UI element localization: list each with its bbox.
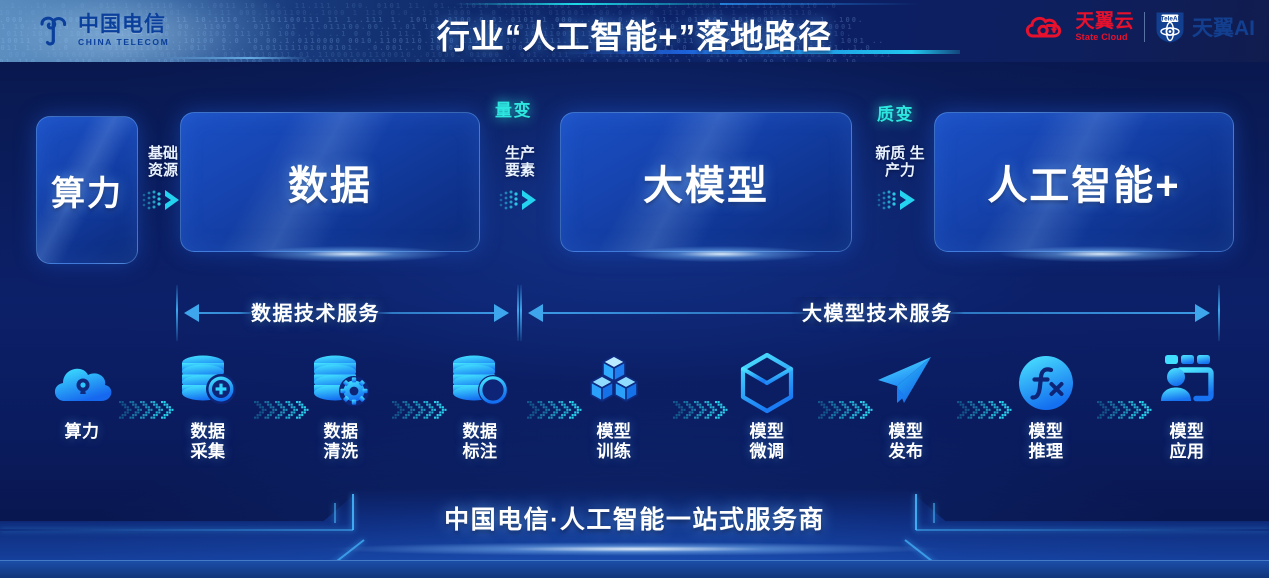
partner-logos: 天翼云 State Cloud TeleAI 天翼AI <box>1023 11 1255 43</box>
pipeline-node-label: 模型 微调 <box>750 422 785 461</box>
pipeline-node-label: 算力 <box>65 422 100 442</box>
connector-new-productivity: 新质 生产力 <box>871 146 929 213</box>
band-arrowhead-left <box>528 304 543 322</box>
header-accent-line-top-2 <box>720 3 920 5</box>
service-band-data: 数据技术服务 <box>176 285 519 341</box>
pipeline-node-label: 数据 标注 <box>463 422 498 461</box>
connector-basic-resource: 基础 资源 <box>140 146 186 213</box>
state-cloud-logo: 天翼云 State Cloud <box>1023 12 1134 42</box>
function-fx-icon <box>1016 352 1076 414</box>
state-cloud-logo-text: 天翼云 State Cloud <box>1075 12 1134 42</box>
connector-label: 生产 要素 <box>497 146 543 180</box>
paper-plane-icon <box>873 352 939 414</box>
binary-texture-row: 1100 101.110.. 0 1010 11 .00 1 10011 . 1… <box>0 58 858 62</box>
teleai-logo: TeleAI 天翼AI <box>1155 11 1255 43</box>
stage-box-compute[interactable]: 算力 <box>36 116 138 264</box>
pipeline-node-label: 数据 清洗 <box>324 422 359 461</box>
chevron-arrow-icon <box>875 187 925 213</box>
chevron-arrow-icon <box>141 187 185 213</box>
cloud-logo-icon <box>1023 12 1069 42</box>
pipeline-row: 算力 数据 采集 <box>0 352 1269 482</box>
band-label: 大模型技术服务 <box>790 297 965 326</box>
state-cloud-name-cn: 天翼云 <box>1075 12 1134 31</box>
teleai-name-cn: 天翼AI <box>1192 12 1255 42</box>
stage-box-ai-plus[interactable]: 人工智能+ <box>934 112 1234 252</box>
stage-label: 人工智能+ <box>987 153 1180 211</box>
connector-label: 基础 资源 <box>140 146 186 180</box>
dotted-chevron-arrow-icon <box>954 396 1012 431</box>
dotted-chevron-arrow-icon <box>251 396 309 431</box>
stage-box-data[interactable]: 数据 <box>180 112 480 252</box>
band-arrowhead-left <box>184 304 199 322</box>
band-arrowhead-right <box>494 304 509 322</box>
cubes-icon <box>582 352 646 414</box>
stage-box-large-model[interactable]: 大模型 <box>560 112 852 252</box>
band-tick-right <box>1218 285 1220 341</box>
band-tick-left <box>520 285 522 341</box>
band-tick-right <box>517 285 519 341</box>
database-gear-icon <box>309 352 373 414</box>
band-arrowhead-right <box>1195 304 1210 322</box>
chevron-arrow-icon <box>498 187 542 213</box>
header-bar: 0000101 01. .1...10. 0 .0 .011.1 0.1110 … <box>0 0 1269 62</box>
pipeline-node-label: 模型 发布 <box>889 422 924 461</box>
connector-production-factor: 生产 要素 <box>497 146 543 213</box>
shield-logo-icon: TeleAI <box>1155 11 1185 43</box>
stage-label: 算力 <box>51 166 123 215</box>
footer-tagline: 中国电信·人工智能一站式服务商 <box>0 500 1269 536</box>
phase-label-qualitative: 质变 <box>877 100 914 125</box>
pipeline-node-label: 模型 应用 <box>1170 422 1205 461</box>
pipeline-node-label: 模型 推理 <box>1029 422 1064 461</box>
user-network-icon <box>1156 352 1218 414</box>
pipeline-node-label: 模型 训练 <box>597 422 632 461</box>
dotted-chevron-arrow-icon <box>670 396 728 431</box>
slide-canvas: 0000101 01. .1...10. 0 .0 .011.1 0.1110 … <box>0 0 1269 578</box>
dotted-chevron-arrow-icon <box>389 396 447 431</box>
dotted-chevron-arrow-icon <box>1094 396 1152 431</box>
dotted-chevron-arrow-icon <box>815 396 873 431</box>
platform-base-bar <box>0 560 1269 578</box>
dotted-chevron-arrow-icon <box>116 396 174 431</box>
phase-label-quantitative: 量变 <box>495 96 532 121</box>
stage-label: 数据 <box>288 153 372 211</box>
stage-label: 大模型 <box>643 153 769 211</box>
pipeline-node-label: 数据 采集 <box>191 422 226 461</box>
header-accent-line-top <box>455 3 725 5</box>
state-cloud-name-en: State Cloud <box>1075 33 1134 42</box>
database-tag-icon <box>448 352 512 414</box>
dotted-chevron-arrow-icon <box>524 396 582 431</box>
teleai-badge-text: TeleAI <box>1161 16 1180 23</box>
service-band-large-model: 大模型技术服务 <box>520 285 1220 341</box>
connector-label: 新质 生产力 <box>871 146 929 180</box>
cloud-lock-icon <box>49 352 115 414</box>
band-tick-left <box>176 285 178 341</box>
platform-glow <box>325 542 945 556</box>
band-label: 数据技术服务 <box>239 297 392 326</box>
cube-outline-icon <box>736 352 798 414</box>
database-plus-icon <box>176 352 240 414</box>
logo-divider <box>1144 12 1145 42</box>
